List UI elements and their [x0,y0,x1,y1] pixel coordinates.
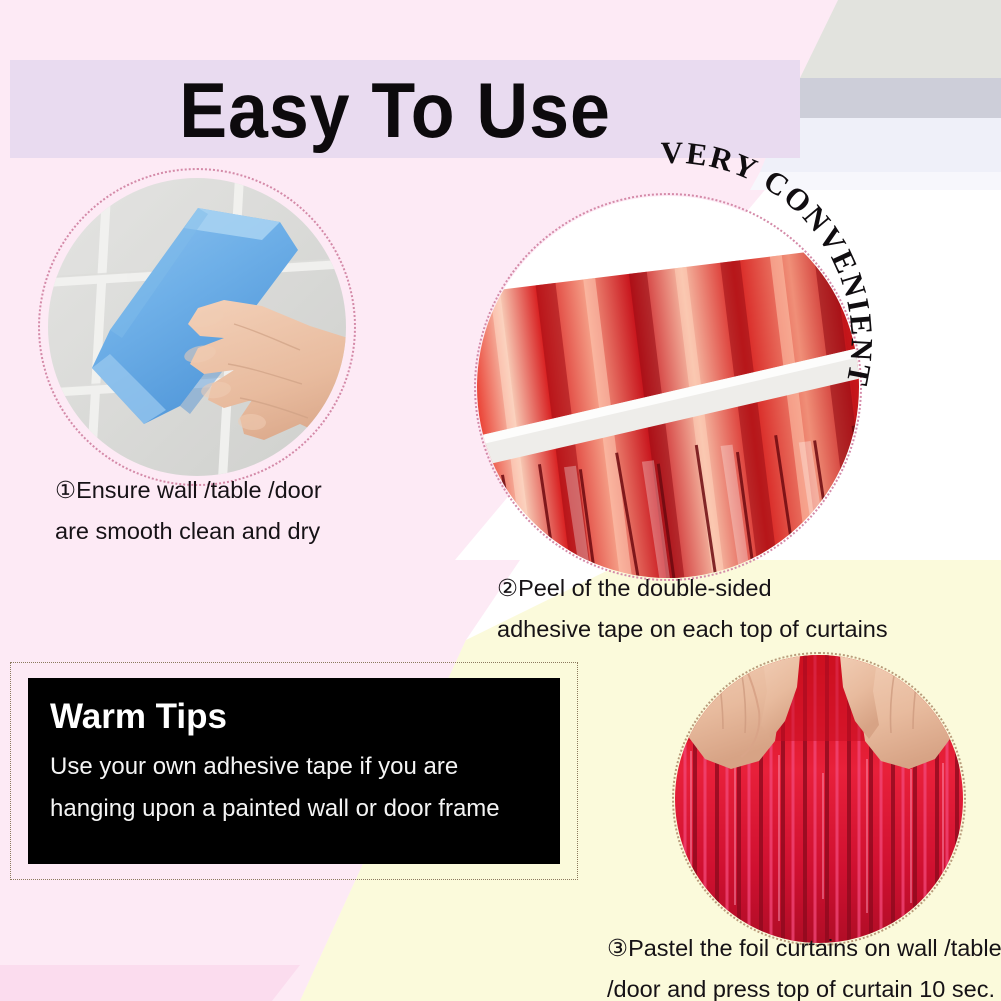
page-title: Easy To Use [32,62,759,158]
step-3-caption-line-1: ③Pastel the foil curtains on wall /table [607,928,1001,969]
step-1-caption: ①Ensure wall /table /door are smooth cle… [55,470,322,552]
step-3-photo [675,655,963,943]
infographic-page: Easy To Use [0,0,1001,1001]
warm-tips-body: Use your own adhesive tape if you are ha… [50,746,538,830]
warm-tips-panel: Warm Tips Use your own adhesive tape if … [28,678,560,864]
step-2-photo [477,196,859,578]
step-2-caption-line-2: adhesive tape on each top of curtains [497,609,888,650]
warm-tips-line-1: Use your own adhesive tape if you are [50,746,538,788]
step-1-photo [48,178,346,476]
step-1-caption-line-1: ①Ensure wall /table /door [55,470,322,511]
warm-tips-line-2: hanging upon a painted wall or door fram… [50,788,538,830]
warm-tips-title: Warm Tips [50,694,538,740]
step-1-caption-line-2: are smooth clean and dry [55,511,322,552]
step-2-caption-line-1: ②Peel of the double-sided [497,568,888,609]
step-2-caption: ②Peel of the double-sided adhesive tape … [497,568,888,650]
step-3-caption-line-2: /door and press top of curtain 10 sec. [607,969,1001,1001]
step-3-caption: ③Pastel the foil curtains on wall /table… [607,928,1001,1001]
